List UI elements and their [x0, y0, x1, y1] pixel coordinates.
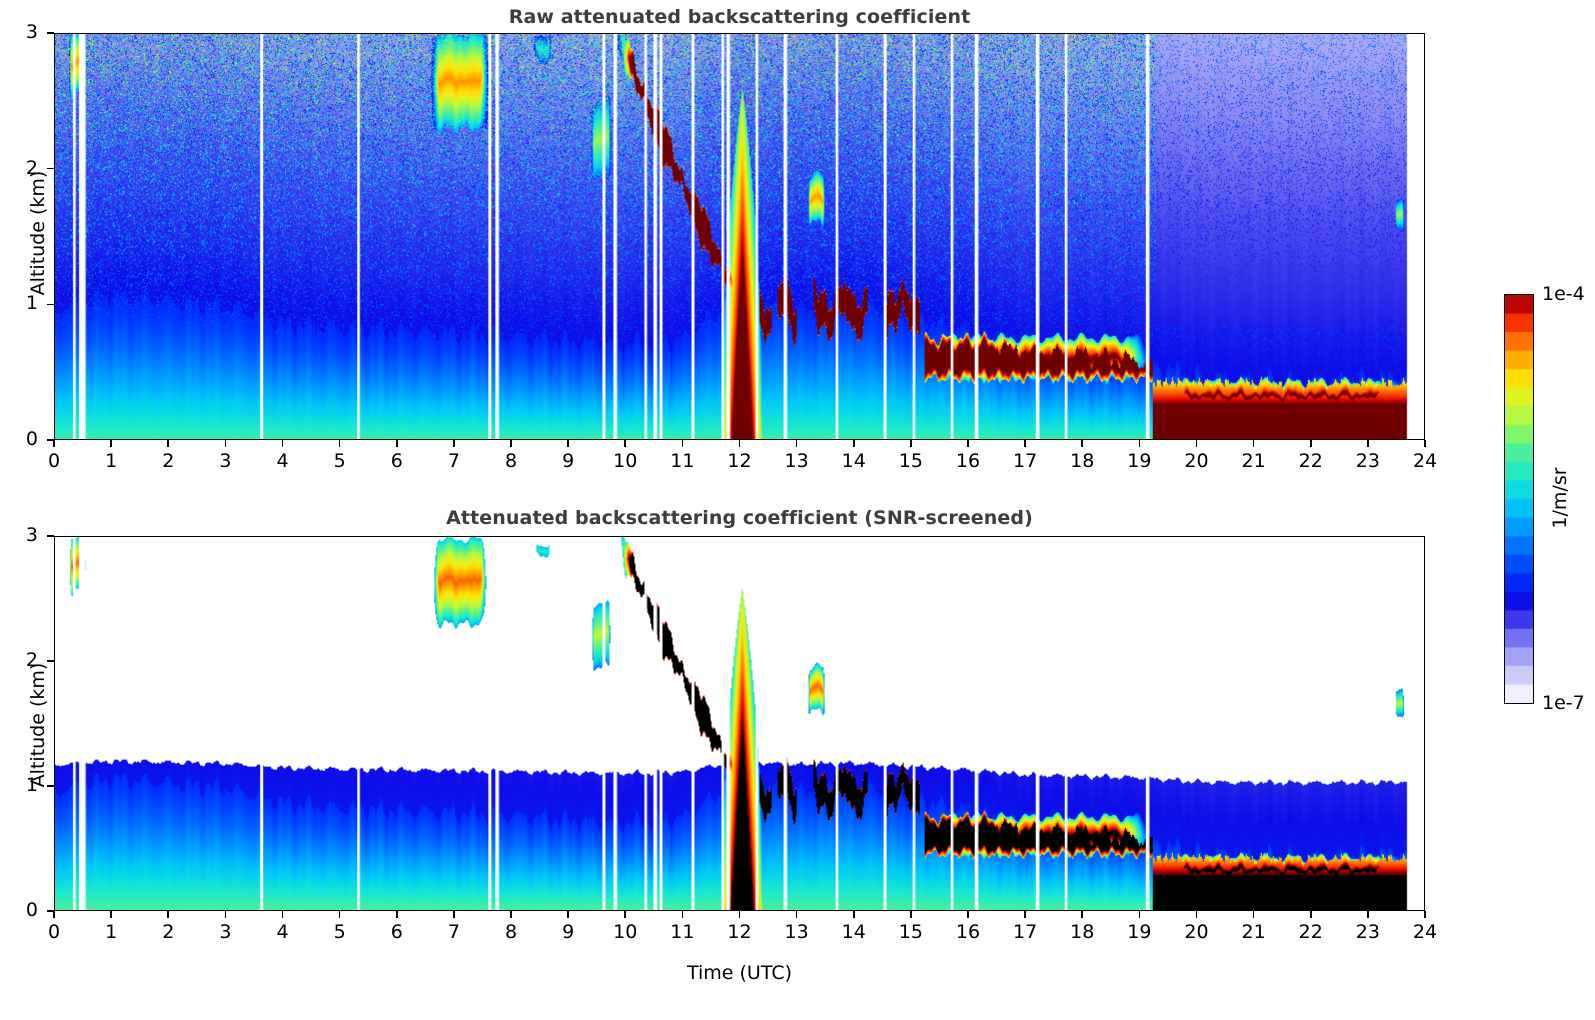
x-tick	[1139, 911, 1141, 918]
x-tick-label: 6	[377, 921, 417, 943]
x-tick	[1024, 911, 1026, 918]
x-tick	[339, 911, 341, 918]
x-tick-label: 6	[377, 450, 417, 472]
x-tick	[853, 911, 855, 918]
y-tick-label: 2	[8, 649, 38, 671]
x-tick-label: 23	[1348, 450, 1388, 472]
time-axis-label: Time (UTC)	[54, 962, 1425, 984]
colorbar	[1504, 294, 1534, 704]
x-tick-label: 0	[34, 921, 74, 943]
x-tick-label: 17	[1005, 450, 1045, 472]
x-tick-label: 21	[1234, 921, 1274, 943]
colorbar-max-label: 1e-4	[1542, 283, 1585, 305]
x-tick	[1253, 440, 1255, 447]
x-tick-label: 14	[834, 921, 874, 943]
x-tick-label: 17	[1005, 921, 1045, 943]
x-tick-label: 19	[1119, 921, 1159, 943]
x-tick-label: 11	[662, 921, 702, 943]
x-tick	[282, 440, 284, 447]
x-tick-label: 0	[34, 450, 74, 472]
raw-backscatter-heatmap	[55, 34, 1424, 439]
x-tick	[624, 440, 626, 447]
x-tick	[1196, 911, 1198, 918]
x-tick-label: 10	[605, 921, 645, 943]
x-tick-label: 4	[263, 921, 303, 943]
x-tick	[624, 911, 626, 918]
x-tick-label: 3	[205, 921, 245, 943]
y-tick-label: 0	[8, 899, 38, 921]
x-tick-label: 22	[1291, 450, 1331, 472]
x-tick	[796, 440, 798, 447]
x-tick-label: 10	[605, 450, 645, 472]
x-tick-label: 9	[548, 450, 588, 472]
y-tick	[47, 32, 54, 34]
x-tick	[339, 440, 341, 447]
x-tick-label: 1	[91, 450, 131, 472]
x-tick-label: 21	[1234, 450, 1274, 472]
x-tick	[853, 440, 855, 447]
colorbar-min-label: 1e-7	[1542, 692, 1585, 714]
x-tick-label: 13	[777, 450, 817, 472]
x-tick-label: 20	[1177, 450, 1217, 472]
x-tick	[682, 440, 684, 447]
x-tick	[167, 911, 169, 918]
y-tick	[47, 660, 54, 662]
x-tick	[1253, 911, 1255, 918]
x-tick	[567, 911, 569, 918]
y-tick	[47, 304, 54, 306]
x-tick-label: 2	[148, 450, 188, 472]
x-tick-label: 11	[662, 450, 702, 472]
y-tick-label: 3	[8, 21, 38, 43]
x-tick-label: 4	[263, 450, 303, 472]
x-tick-label: 23	[1348, 921, 1388, 943]
x-tick	[225, 911, 227, 918]
x-tick	[910, 440, 912, 447]
x-tick	[1310, 911, 1312, 918]
y-tick-label: 1	[8, 292, 38, 314]
screened-panel-axes	[54, 536, 1425, 911]
x-tick	[1424, 911, 1426, 918]
x-tick-label: 22	[1291, 921, 1331, 943]
x-tick	[967, 911, 969, 918]
x-tick-label: 5	[320, 921, 360, 943]
y-tick	[47, 910, 54, 912]
x-tick	[1424, 440, 1426, 447]
y-tick-label: 1	[8, 774, 38, 796]
x-tick-label: 19	[1119, 450, 1159, 472]
y-tick-label: 3	[8, 524, 38, 546]
x-tick	[110, 911, 112, 918]
x-tick	[739, 440, 741, 447]
raw-panel-title: Raw attenuated backscattering coefficien…	[54, 6, 1425, 28]
x-tick	[967, 440, 969, 447]
x-tick-label: 15	[891, 450, 931, 472]
x-tick	[396, 911, 398, 918]
x-tick-label: 12	[720, 450, 760, 472]
y-tick-label: 2	[8, 157, 38, 179]
screened-backscatter-heatmap	[55, 537, 1424, 910]
x-tick	[739, 911, 741, 918]
x-tick	[167, 440, 169, 447]
x-tick	[682, 911, 684, 918]
x-tick-label: 9	[548, 921, 588, 943]
x-tick	[1196, 440, 1198, 447]
lidar-backscatter-figure: Raw attenuated backscattering coefficien…	[0, 0, 1595, 1020]
x-tick-label: 24	[1405, 450, 1445, 472]
x-tick	[910, 911, 912, 918]
colorbar-unit-label: 1/m/sr	[1549, 428, 1571, 568]
x-tick-label: 24	[1405, 921, 1445, 943]
x-tick-label: 16	[948, 450, 988, 472]
y-tick	[47, 439, 54, 441]
x-tick	[796, 911, 798, 918]
x-tick	[453, 440, 455, 447]
x-tick-label: 5	[320, 450, 360, 472]
x-tick	[53, 440, 55, 447]
x-tick	[282, 911, 284, 918]
x-tick-label: 7	[434, 921, 474, 943]
x-tick-label: 13	[777, 921, 817, 943]
colorbar-gradient	[1505, 295, 1533, 703]
x-tick-label: 15	[891, 921, 931, 943]
x-tick-label: 2	[148, 921, 188, 943]
x-tick	[1081, 911, 1083, 918]
x-tick	[510, 440, 512, 447]
y-tick-label: 0	[8, 428, 38, 450]
x-tick-label: 8	[491, 921, 531, 943]
x-tick-label: 18	[1062, 921, 1102, 943]
x-tick	[1367, 440, 1369, 447]
x-tick	[1024, 440, 1026, 447]
x-tick	[225, 440, 227, 447]
x-tick-label: 7	[434, 450, 474, 472]
screened-panel-title: Attenuated backscattering coefficient (S…	[54, 507, 1425, 529]
x-tick-label: 20	[1177, 921, 1217, 943]
x-tick-label: 3	[205, 450, 245, 472]
y-tick	[47, 535, 54, 537]
x-tick	[1139, 440, 1141, 447]
x-tick-label: 16	[948, 921, 988, 943]
x-tick	[1081, 440, 1083, 447]
x-tick	[110, 440, 112, 447]
x-tick	[396, 440, 398, 447]
x-tick	[453, 911, 455, 918]
y-tick	[47, 785, 54, 787]
x-tick-label: 1	[91, 921, 131, 943]
x-tick-label: 12	[720, 921, 760, 943]
x-tick	[510, 911, 512, 918]
x-tick	[53, 911, 55, 918]
x-tick-label: 18	[1062, 450, 1102, 472]
x-tick	[1310, 440, 1312, 447]
y-tick	[47, 168, 54, 170]
x-tick-label: 14	[834, 450, 874, 472]
x-tick-label: 8	[491, 450, 531, 472]
x-tick	[567, 440, 569, 447]
x-tick	[1367, 911, 1369, 918]
raw-panel-axes	[54, 33, 1425, 440]
